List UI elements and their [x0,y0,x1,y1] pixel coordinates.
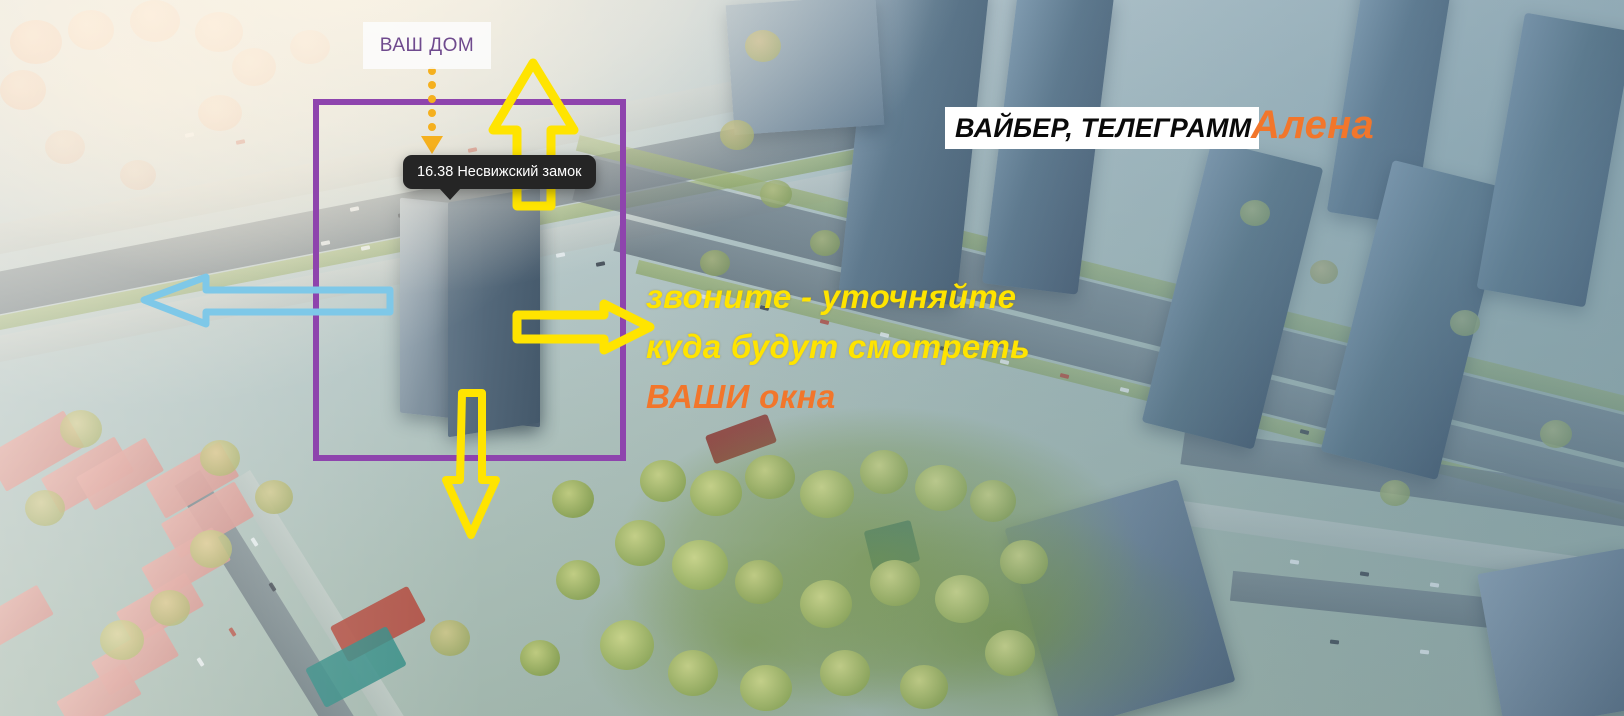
pitch-line-2: куда будут смотреть [646,322,1126,372]
tooltip-tail-icon [439,188,461,200]
pitch-text-block: звоните - уточняйте куда будут смотреть … [646,272,1126,422]
pitch-line-3: ВАШИ окна [646,372,1126,422]
dotted-arrow-down-icon [418,66,446,156]
screenshot-canvas: ВАШ ДОМ 16.38 Несвижский замок ВАЙБЕР, Т… [0,0,1624,716]
messenger-label-text: ВАЙБЕР, ТЕЛЕГРАММ [955,113,1251,144]
map-tooltip-text: 16.38 Несвижский замок [417,164,582,180]
arrow-left-icon [140,270,392,328]
arrow-right-icon [512,300,654,354]
arrow-down-icon [440,388,502,540]
agent-name-text: Алена [1251,103,1374,147]
pitch-line-1: звоните - уточняйте [646,272,1126,322]
your-home-label-text: ВАШ ДОМ [380,35,474,57]
messenger-label: ВАЙБЕР, ТЕЛЕГРАММ [945,107,1259,149]
map-tooltip[interactable]: 16.38 Несвижский замок [403,155,596,189]
agent-name: Алена [1251,103,1374,148]
your-home-label: ВАШ ДОМ [363,22,491,69]
